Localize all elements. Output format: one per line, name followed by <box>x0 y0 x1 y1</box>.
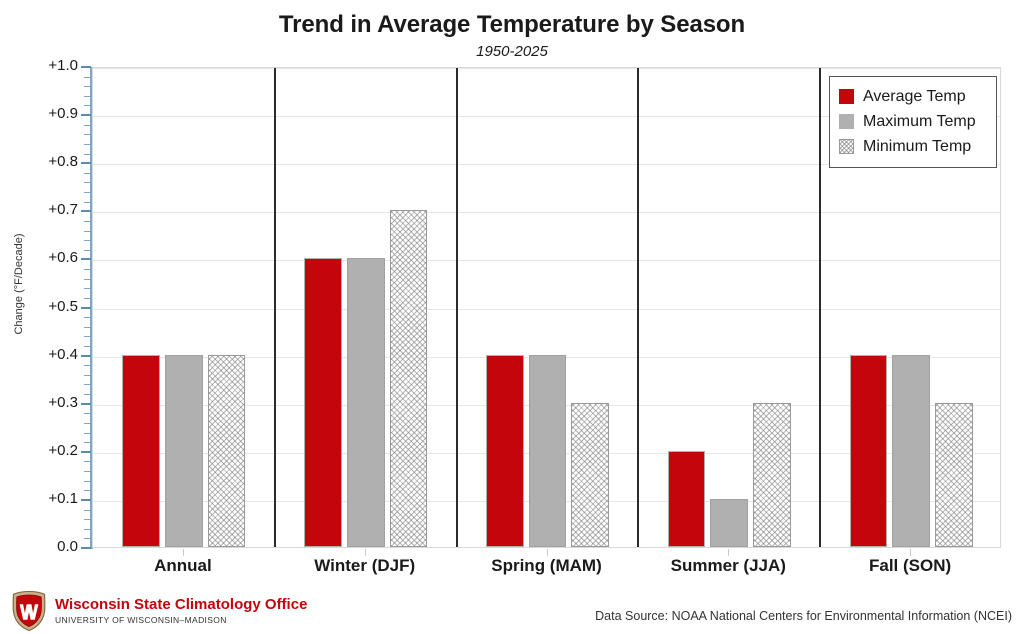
y-axis-minor-tick <box>84 317 91 318</box>
bar <box>486 355 524 547</box>
footer-branding: Wisconsin State Climatology Office UNIVE… <box>10 590 307 632</box>
legend-swatch-maximum-temp <box>839 114 854 129</box>
y-axis-tick <box>81 66 91 68</box>
footer-university-name: UNIVERSITY OF WISCONSIN–MADISON <box>55 615 307 625</box>
y-axis-tick <box>81 162 91 164</box>
group-separator <box>819 68 821 547</box>
y-axis-tick <box>81 547 91 549</box>
y-axis-minor-tick <box>84 327 91 328</box>
bar <box>347 258 385 547</box>
legend-label-maximum-temp: Maximum Temp <box>863 113 976 131</box>
y-axis-minor-tick <box>84 538 91 539</box>
y-axis-minor-tick <box>84 288 91 289</box>
gridline <box>93 68 1000 69</box>
bar <box>850 355 888 547</box>
y-axis-minor-tick <box>84 423 91 424</box>
y-axis-minor-tick <box>84 250 91 251</box>
y-axis-minor-tick <box>84 471 91 472</box>
legend-label-average-temp: Average Temp <box>863 88 966 106</box>
y-axis-tick-label: +1.0 <box>8 57 78 74</box>
x-axis-tick <box>183 549 184 556</box>
y-axis-minor-tick <box>84 279 91 280</box>
data-source-note: Data Source: NOAA National Centers for E… <box>595 609 1012 623</box>
legend-item-maximum-temp[interactable]: Maximum Temp <box>839 109 987 134</box>
y-axis-tick-label: 0.0 <box>8 538 78 555</box>
y-axis-minor-tick <box>84 384 91 385</box>
uw-madison-crest-logo <box>10 590 48 632</box>
y-axis-minor-tick <box>84 125 91 126</box>
y-axis-tick <box>81 210 91 212</box>
y-axis-minor-tick <box>84 442 91 443</box>
y-axis-minor-tick <box>84 433 91 434</box>
y-axis-minor-tick <box>84 365 91 366</box>
y-axis-minor-tick <box>84 346 91 347</box>
legend-item-average-temp[interactable]: Average Temp <box>839 84 987 109</box>
bar <box>208 355 246 547</box>
y-axis-minor-tick <box>84 86 91 87</box>
x-axis-tick <box>728 549 729 556</box>
y-axis-tick-label: +0.1 <box>8 490 78 507</box>
legend-swatch-average-temp <box>839 89 854 104</box>
footer-org-name: Wisconsin State Climatology Office <box>55 597 307 613</box>
y-axis-minor-tick <box>84 192 91 193</box>
y-axis-minor-tick <box>84 481 91 482</box>
bar <box>892 355 930 547</box>
y-axis-tick <box>81 451 91 453</box>
y-axis-tick <box>81 355 91 357</box>
y-axis-minor-tick <box>84 529 91 530</box>
x-axis-tick <box>910 549 911 556</box>
group-separator <box>456 68 458 547</box>
y-axis-minor-tick <box>84 202 91 203</box>
legend-label-minimum-temp: Minimum Temp <box>863 138 971 156</box>
bar <box>165 355 203 547</box>
y-axis-minor-tick <box>84 173 91 174</box>
y-axis-tick-label: +0.9 <box>8 105 78 122</box>
gridline <box>93 309 1000 310</box>
y-axis-tick-label: +0.5 <box>8 298 78 315</box>
y-axis-tick-label: +0.6 <box>8 249 78 266</box>
chart-title: Trend in Average Temperature by Season <box>0 11 1024 39</box>
y-axis-tick <box>81 499 91 501</box>
chart-subtitle: 1950-2025 <box>0 43 1024 60</box>
y-axis-minor-tick <box>84 394 91 395</box>
bar <box>710 499 748 547</box>
bar <box>935 403 973 547</box>
y-axis-minor-tick <box>84 182 91 183</box>
y-axis-minor-tick <box>84 105 91 106</box>
y-axis-tick <box>81 114 91 116</box>
group-separator <box>637 68 639 547</box>
y-axis-minor-tick <box>84 510 91 511</box>
y-axis-tick <box>81 258 91 260</box>
y-axis-title: Change (°F/Decade) <box>13 209 25 359</box>
y-axis-minor-tick <box>84 413 91 414</box>
gridline <box>93 260 1000 261</box>
y-axis-tick-label: +0.4 <box>8 346 78 363</box>
y-axis-tick <box>81 403 91 405</box>
chart-legend[interactable]: Average Temp Maximum Temp Minimum Temp <box>829 76 997 168</box>
bar <box>571 403 609 547</box>
bar <box>529 355 567 547</box>
bar <box>390 210 428 547</box>
y-axis-tick-label: +0.2 <box>8 442 78 459</box>
y-axis-tick-label: +0.3 <box>8 394 78 411</box>
legend-swatch-minimum-temp <box>839 139 854 154</box>
y-axis-tick-label: +0.8 <box>8 153 78 170</box>
y-axis-minor-tick <box>84 375 91 376</box>
y-axis-tick-label: +0.7 <box>8 201 78 218</box>
y-axis-minor-tick <box>84 96 91 97</box>
bar <box>753 403 791 547</box>
y-axis-minor-tick <box>84 154 91 155</box>
y-axis-tick <box>81 307 91 309</box>
group-separator <box>274 68 276 547</box>
y-axis-minor-tick <box>84 231 91 232</box>
y-axis-minor-tick <box>84 490 91 491</box>
y-axis-minor-tick <box>84 144 91 145</box>
y-axis-minor-tick <box>84 336 91 337</box>
y-axis-minor-tick <box>84 221 91 222</box>
y-axis-minor-tick <box>84 77 91 78</box>
bar <box>122 355 160 547</box>
y-axis-minor-tick <box>84 240 91 241</box>
y-axis-minor-tick <box>84 269 91 270</box>
gridline <box>93 212 1000 213</box>
bar <box>304 258 342 547</box>
footer-text: Wisconsin State Climatology Office UNIVE… <box>55 597 307 625</box>
chart-figure: Trend in Average Temperature by Season 1… <box>0 0 1024 634</box>
x-axis-tick <box>365 549 366 556</box>
legend-item-minimum-temp[interactable]: Minimum Temp <box>839 134 987 159</box>
x-axis-tick <box>547 549 548 556</box>
y-axis-minor-tick <box>84 298 91 299</box>
bar <box>668 451 706 547</box>
x-axis-label: Fall (SON) <box>800 556 1020 576</box>
y-axis-minor-tick <box>84 461 91 462</box>
y-axis-minor-tick <box>84 519 91 520</box>
y-axis-minor-tick <box>84 134 91 135</box>
